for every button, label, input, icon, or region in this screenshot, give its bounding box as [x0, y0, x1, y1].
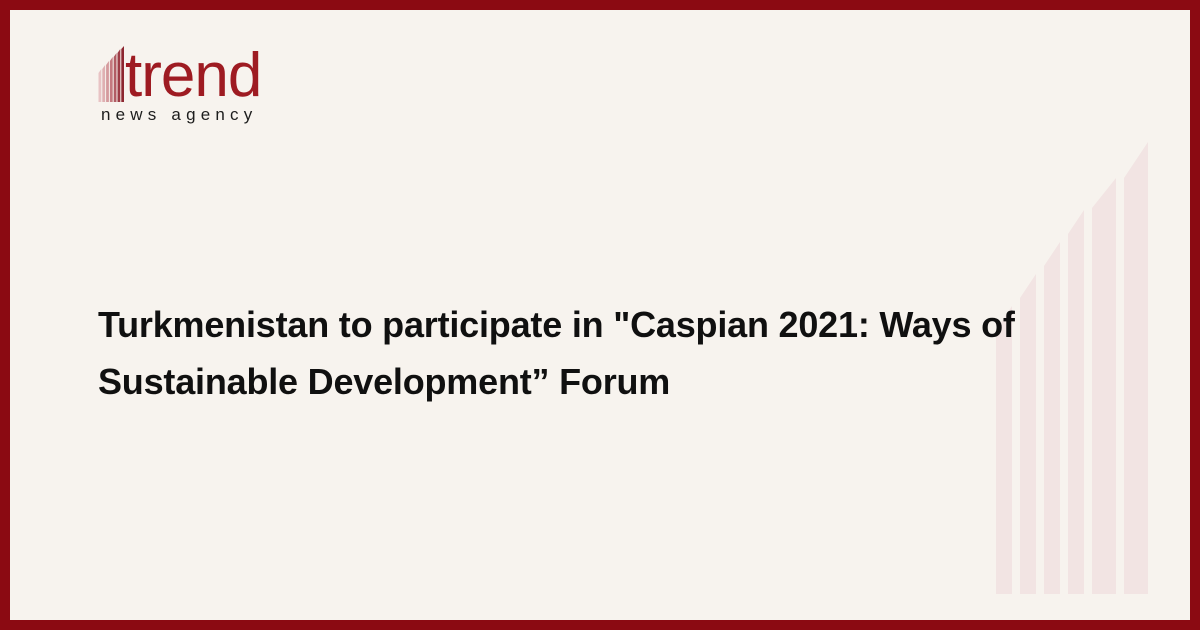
logo-wordmark-row: trend — [98, 42, 261, 104]
logo-wordmark: trend — [125, 48, 261, 104]
trend-logo[interactable]: trend news agency — [98, 42, 261, 125]
logo-tagline: news agency — [101, 105, 261, 125]
trend-skyline-bars-icon — [98, 46, 124, 102]
social-share-card: trend news agency Turkmenistan to partic… — [0, 0, 1200, 630]
page-title: Turkmenistan to participate in "Caspian … — [98, 296, 1108, 410]
